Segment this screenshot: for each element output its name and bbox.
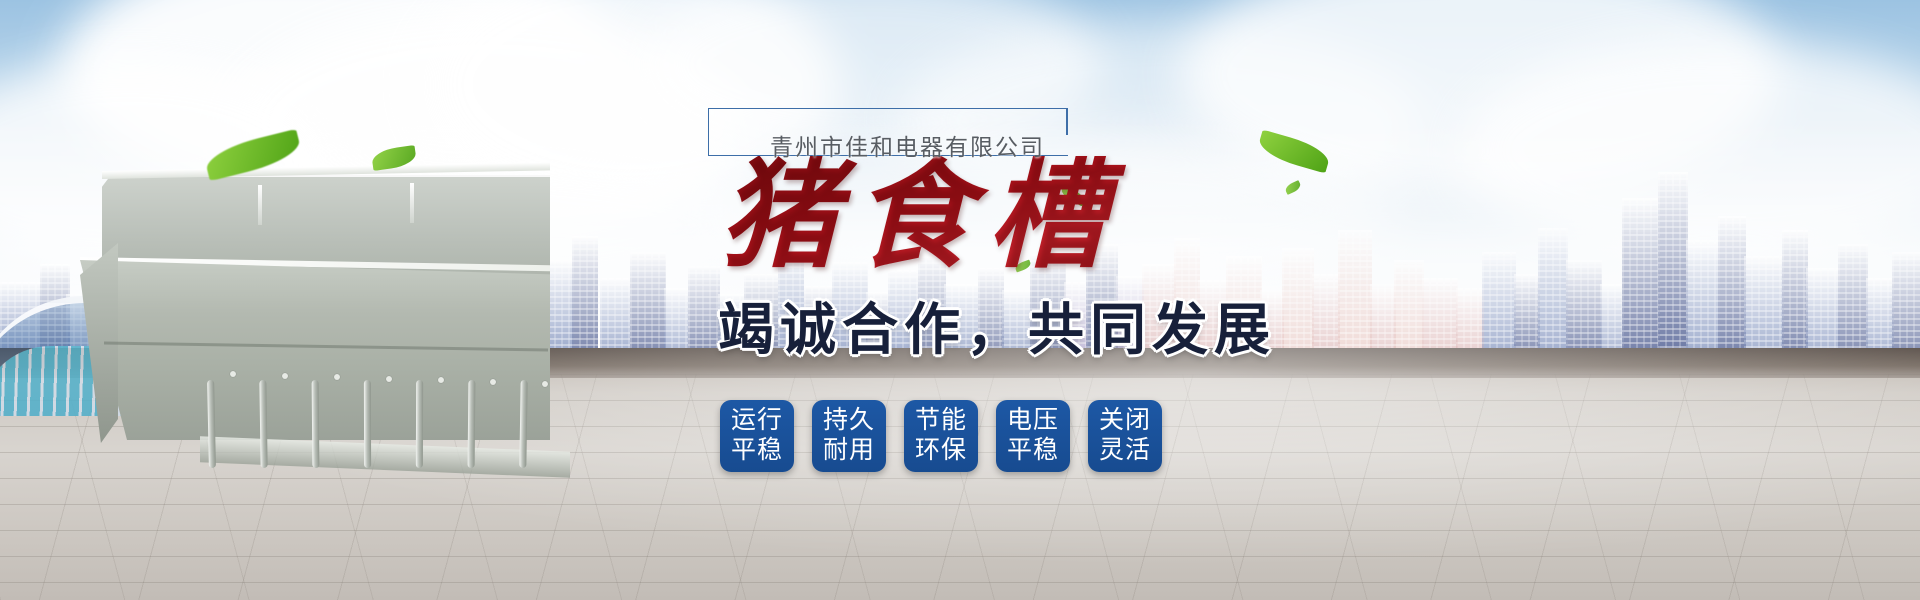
badge-line-1: 关闭 [1099,406,1151,436]
badge-line-1: 电压 [1007,406,1059,436]
badge-line-1: 持久 [823,406,875,436]
badge-line-2: 灵活 [1099,436,1151,466]
badge-line-1: 运行 [731,406,783,436]
trough-bolt [386,376,392,382]
trough-back-divider [410,183,414,223]
trough-bolt [542,381,548,387]
company-name: 青州市佳和电器有限公司 [770,128,1045,162]
badge-line-2: 平稳 [731,436,783,466]
feature-badge-2[interactable]: 持久耐用 [812,400,886,472]
trough-divider-bar [259,380,267,468]
feature-badge-list: 运行平稳持久耐用节能环保电压平稳关闭灵活 [720,400,1310,472]
feature-badge-3[interactable]: 节能环保 [904,400,978,472]
trough-bolt [282,373,288,379]
trough-divider-bar [364,380,371,468]
pig-feed-trough-product [80,165,550,460]
trough-bolt [490,379,496,385]
banner-copy: 青州市佳和电器有限公司 猪食槽 竭诚合作，共同发展 运行平稳持久耐用节能环保电压… [690,100,1310,472]
banner-subtitle: 竭诚合作，共同发展 [718,285,1310,366]
trough-divider-bar [416,380,423,468]
badge-line-2: 平稳 [1007,436,1059,466]
company-name-frame: 青州市佳和电器有限公司 [708,100,1068,162]
badge-line-2: 环保 [915,436,967,466]
feature-badge-1[interactable]: 运行平稳 [720,400,794,472]
feature-badge-5[interactable]: 关闭灵活 [1088,400,1162,472]
trough-divider-bar [519,380,527,468]
page-title: 猪食槽 [720,156,1310,279]
trough-bolt [230,371,236,377]
trough-back-divider [258,185,262,225]
trough-divider-bar [312,380,320,468]
badge-line-1: 节能 [915,406,967,436]
feature-badge-4[interactable]: 电压平稳 [996,400,1070,472]
badge-line-2: 耐用 [823,436,875,466]
promo-banner: 青州市佳和电器有限公司 猪食槽 竭诚合作，共同发展 运行平稳持久耐用节能环保电压… [0,0,1920,600]
trough-divider-bar [468,380,476,468]
